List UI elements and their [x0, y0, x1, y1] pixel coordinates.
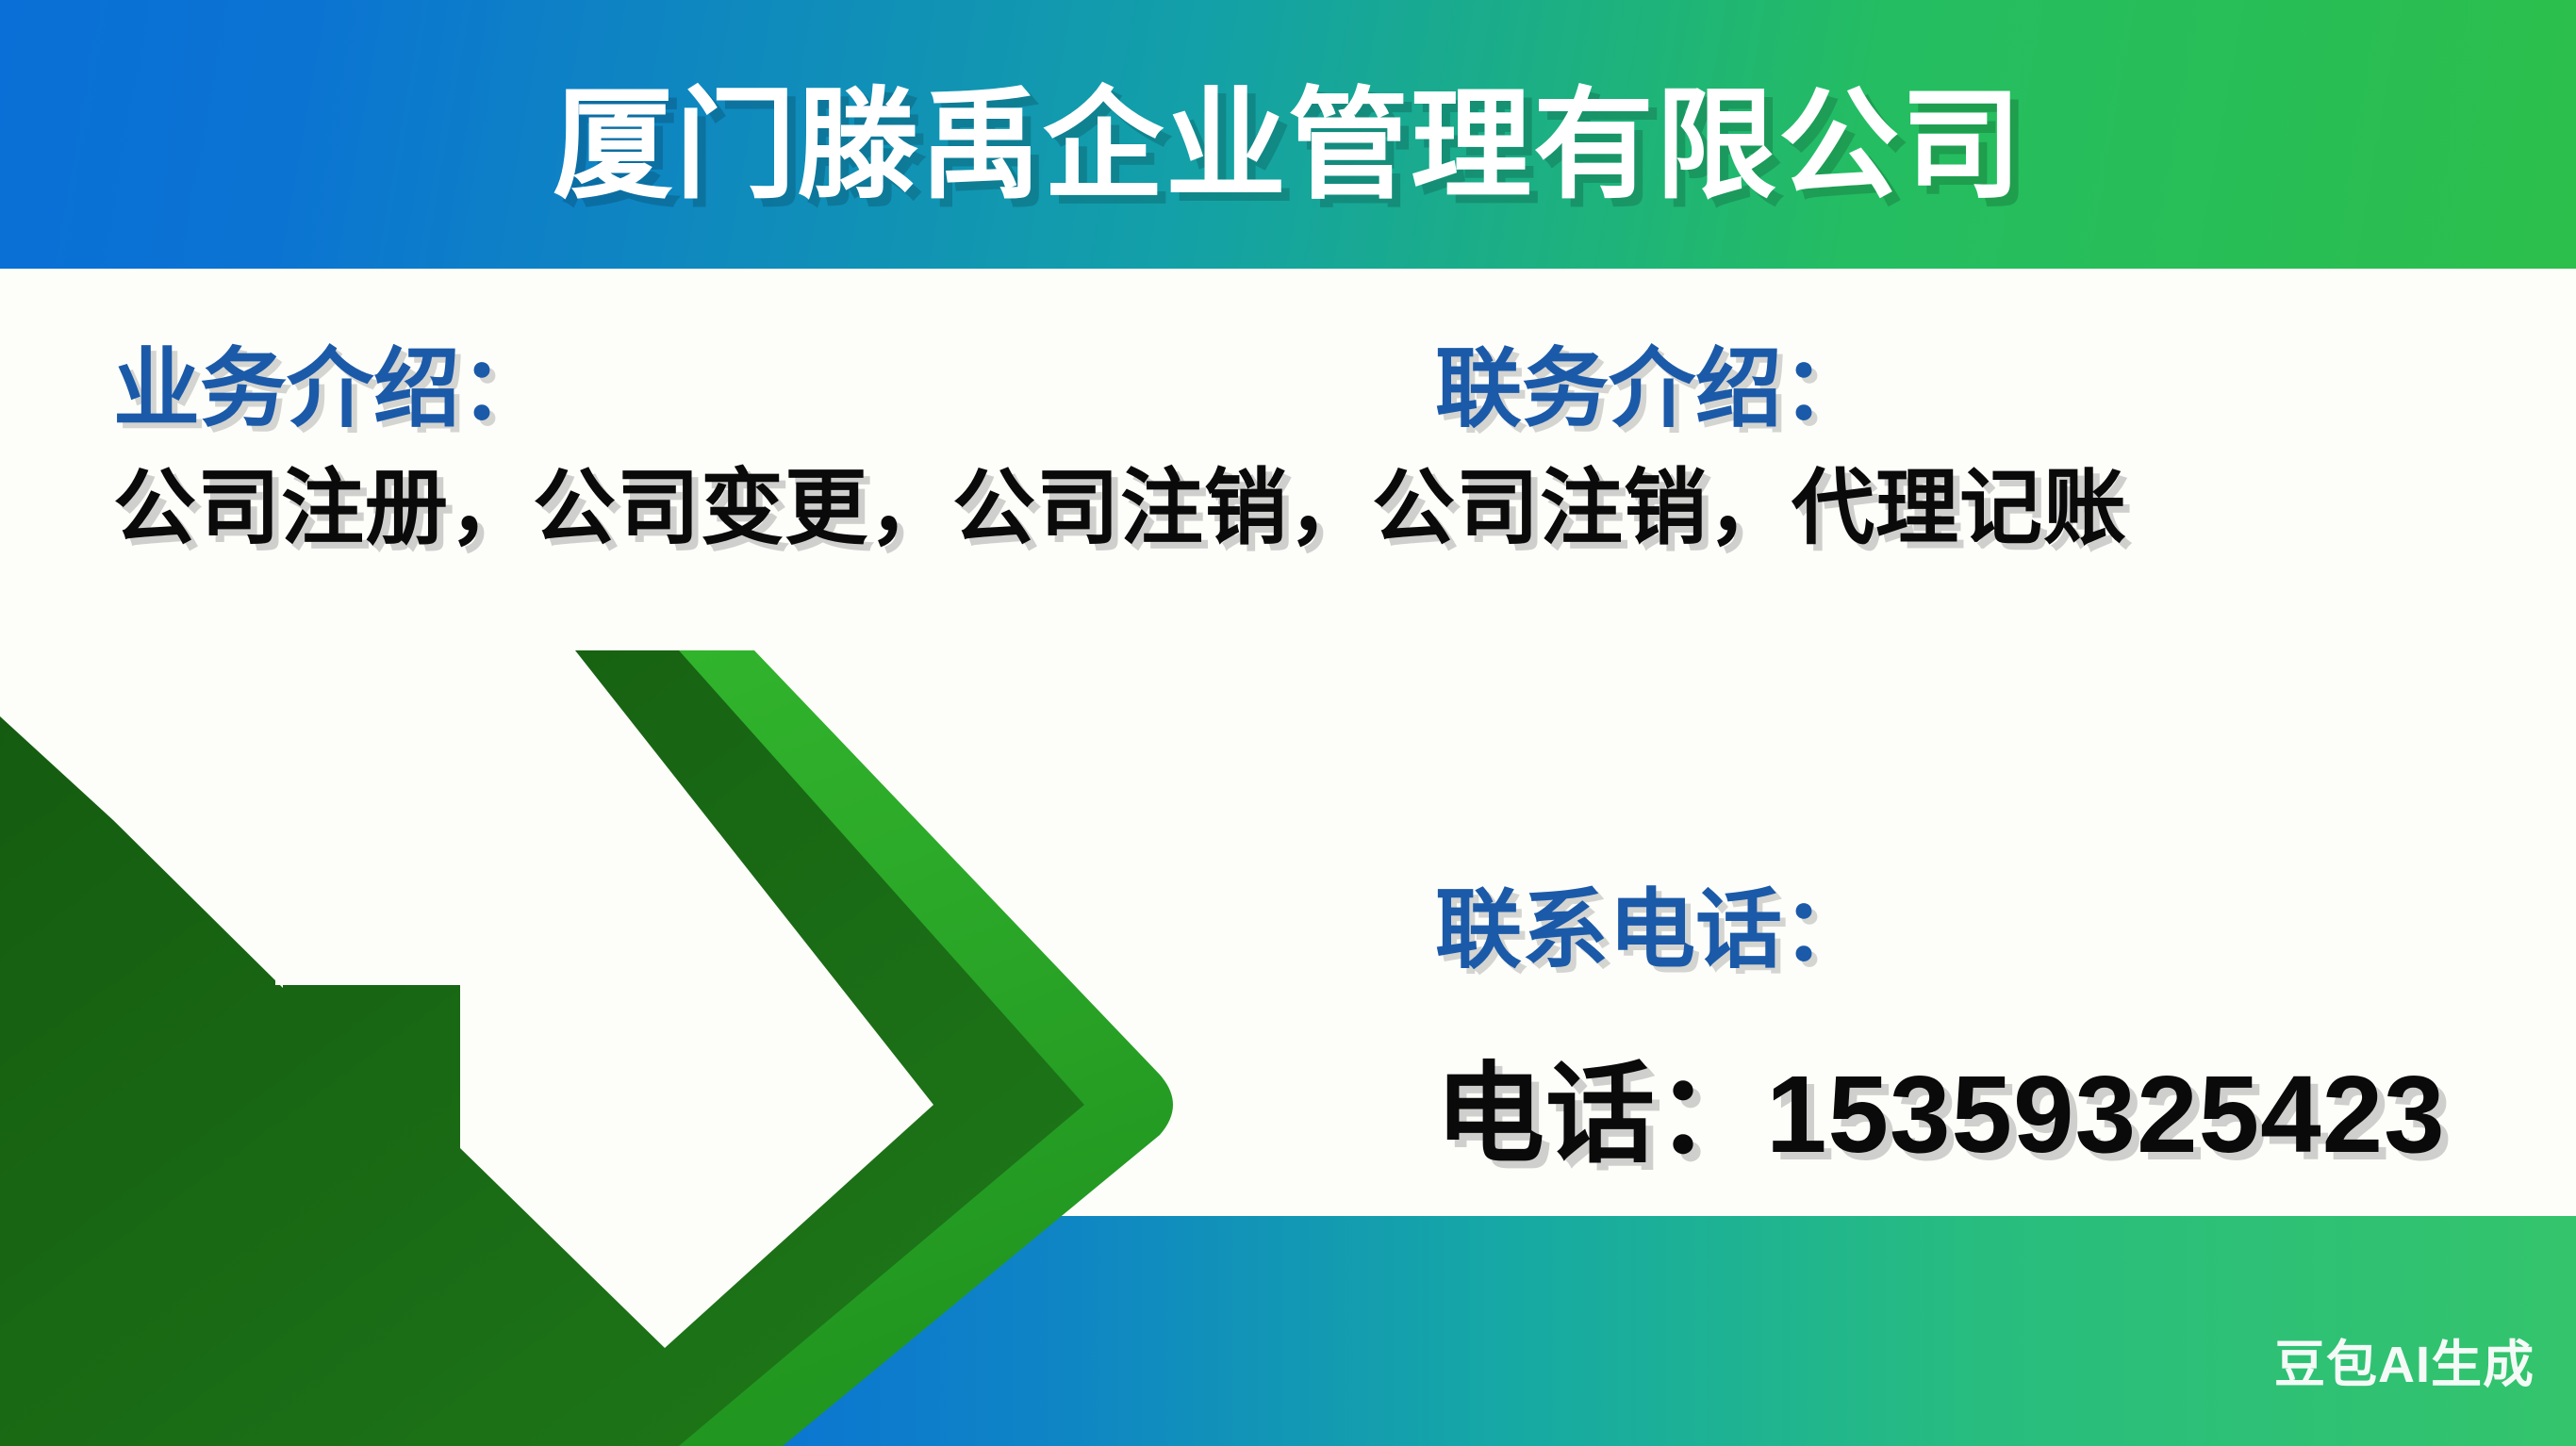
header-band: 厦门滕禹企业管理有限公司: [0, 0, 2576, 269]
business-services-text: 公司注册，公司变更，公司注销，公司注销，代理记账: [113, 441, 2127, 561]
chevron-inner-notch: [275, 650, 933, 1348]
service-intro-heading: 联务介绍：: [1435, 319, 1869, 444]
chevron-right-logo-body: [0, 650, 1084, 1446]
business-intro-heading: 业务介绍：: [113, 319, 547, 444]
company-name-title: 厦门滕禹企业管理有限公司: [0, 0, 2576, 269]
ai-generated-watermark: 豆包AI生成: [2274, 1323, 2535, 1397]
chevron-upper-wedge: [0, 622, 283, 988]
chevron-right-logo-highlight: [358, 650, 1173, 1446]
contact-phone-heading: 联系电话：: [1435, 860, 1869, 985]
contact-phone-number: 电话：15359325423: [1435, 1026, 2446, 1184]
business-card-poster: 厦门滕禹企业管理有限公司 业务介绍： 联务介绍： 公司注册，公司变更，公司注销，…: [0, 0, 2576, 1446]
